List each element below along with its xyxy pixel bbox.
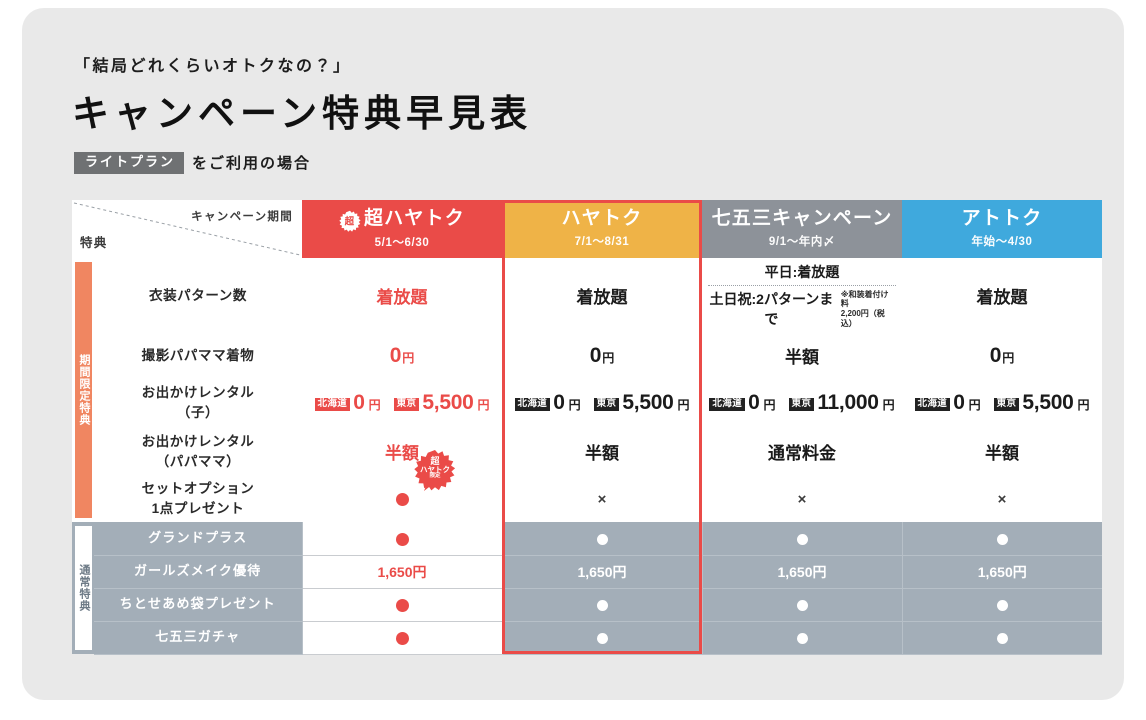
cell-value: 半額 [985,444,1019,463]
standard-section-label: 通常特典 [75,526,92,650]
region-unit: 円 [1077,396,1089,413]
row-label-outing-rental-child: お出かけレンタル （子） [94,378,302,428]
cell-parent-kimono-atotoku: 0円 [902,333,1102,378]
region-price: 東京 5,500円 [394,391,490,415]
region-amount: 0 [353,391,364,415]
region-price-row: 北海道 0円 東京 5,500円 [502,391,702,415]
column-header-title: 七五三キャンペーン [702,209,902,230]
badge-text: 超 ハヤトク 限定 [412,448,458,494]
region-price: 北海道 0円 [515,391,581,415]
limited-section-label: 期間限定特典 [75,262,92,518]
excluded-cross-icon: × [598,491,607,508]
column-header-title: アトトク [902,209,1102,230]
region-badge-hokkaido: 北海道 [915,398,951,412]
included-dot-icon [396,632,409,645]
super-burst-icon: 超 [339,210,361,232]
svg-text:超: 超 [344,215,356,227]
row-label-line-1: お出かけレンタル [94,432,302,452]
split-value: 平日:着放題 土日祝:2パターンまで ※和装着付け料 2,200円（税込） [702,258,902,333]
table-row: お出かけレンタル （子） 北海道 0円 東京 5,500円 [72,378,1102,428]
region-price: 東京 11,000円 [789,391,895,415]
cell-grand-plus-super-hayatoku [302,522,502,555]
table-row: 撮影パパママ着物 0円 0円 半額 0円 [72,333,1102,378]
cell-gacha-atotoku [902,621,1102,654]
cell-value: 着放題 [577,288,628,307]
weekend-note: ※和装着付け料 2,200円（税込） [841,290,896,328]
cell-parent-kimono-shichigosan: 半額 [702,333,902,378]
column-header-super-hayatoku[interactable]: 超 超ハヤトク 5/1〜6/30 [302,200,502,258]
cell-grand-plus-atotoku [902,522,1102,555]
cell-unit: 円 [1002,351,1014,365]
included-dot-icon [597,534,608,545]
super-hayatoku-badge: 超 ハヤトク 限定 [412,448,458,494]
cell-value: 1,650円 [978,564,1027,580]
cell-outing-parents-hayatoku: 半額 [502,428,702,475]
cell-amount: 0 [390,344,401,367]
cell-costume-patterns-hayatoku: 着放題 [502,258,702,333]
column-header-name: アトトク [962,209,1043,230]
plan-suffix: をご利用の場合 [192,152,311,173]
cell-chitose-ame-hayatoku [502,588,702,621]
excluded-cross-icon: × [998,491,1007,508]
standard-section-strip: 通常特典 [72,522,94,654]
row-label-line-1: お出かけレンタル [94,383,302,403]
cell-outing-child-shichigosan: 北海道 0円 東京 11,000円 [702,378,902,428]
row-label-parent-kimono: 撮影パパママ着物 [94,333,302,378]
cell-unit: 円 [402,351,414,365]
region-unit: 円 [477,396,489,413]
region-price-row: 北海道 0円 東京 11,000円 [702,391,902,415]
cell-outing-parents-shichigosan: 通常料金 [702,428,902,475]
cell-grand-plus-hayatoku [502,522,702,555]
excluded-cross-icon: × [798,491,807,508]
cell-value: 通常料金 [768,444,836,463]
region-amount: 11,000 [817,391,878,415]
region-amount: 0 [953,391,964,415]
included-dot-icon [797,600,808,611]
included-dot-icon [797,633,808,644]
column-header-period: 年始〜4/30 [902,233,1102,249]
region-price-row: 北海道 0円 東京 5,500円 [302,391,502,415]
column-header-period: 7/1〜8/31 [502,233,702,249]
page-card: 「結局どれくらいオトクなの？」 キャンペーン特典早見表 ライトプラン をご利用の… [22,8,1124,700]
row-label-shichigosan-gacha: 七五三ガチャ [94,621,302,654]
cell-gacha-super-hayatoku [302,621,502,654]
row-label-costume-patterns: 衣装パターン数 [94,258,302,333]
cell-value: 1,650円 [777,564,826,580]
cell-amount: 0 [590,344,601,367]
table-row: ガールズメイク優待 1,650円 1,650円 1,650円 1,650円 [72,555,1102,588]
note-line-2: 2,200円（税込） [841,309,885,328]
row-label-line-1: セットオプション [94,479,302,499]
row-label-girls-makeup: ガールズメイク優待 [94,555,302,588]
table-row: 期間限定特典 衣装パターン数 着放題 着放題 平日:着放題 土日祝:2パターンま… [72,258,1102,333]
region-amount: 5,500 [1022,391,1073,415]
cell-outing-child-hayatoku: 北海道 0円 東京 5,500円 [502,378,702,428]
comparison-table-wrap: 超 ハヤトク 限定 キャンペーン期間 特典 [72,200,1102,655]
plan-line: ライトプラン をご利用の場合 [74,152,311,174]
cell-girls-makeup-hayatoku: 1,650円 [502,555,702,588]
cell-amount: 0 [990,344,1001,367]
region-unit: 円 [883,396,895,413]
cell-costume-patterns-shichigosan: 平日:着放題 土日祝:2パターンまで ※和装着付け料 2,200円（税込） [702,258,902,333]
region-badge-tokyo: 東京 [789,398,815,412]
column-header-title: 超 超ハヤトク [302,209,502,231]
region-badge-tokyo: 東京 [594,398,620,412]
included-dot-icon [396,599,409,612]
badge-line-3: 限定 [429,474,440,480]
region-badge-tokyo: 東京 [994,398,1020,412]
region-price: 東京 5,500円 [594,391,690,415]
row-label-set-option: セットオプション 1点プレゼント [94,475,302,522]
table-row: 通常特典 グランドプラス [72,522,1102,555]
region-price-row: 北海道 0円 東京 5,500円 [902,391,1102,415]
cell-value: 着放題 [977,288,1028,307]
cell-value: 1,650円 [377,564,426,580]
column-header-name: ハヤトク [562,209,643,230]
cell-outing-parents-super-hayatoku: 半額 [302,428,502,475]
row-label-grand-plus: グランドプラス [94,522,302,555]
included-dot-icon [997,534,1008,545]
region-badge-hokkaido: 北海道 [709,398,745,412]
cell-parent-kimono-super-hayatoku: 0円 [302,333,502,378]
cell-value: 半額 [785,348,819,367]
cell-girls-makeup-shichigosan: 1,650円 [702,555,902,588]
row-label-line-2: （子） [94,403,302,423]
cell-girls-makeup-atotoku: 1,650円 [902,555,1102,588]
cell-girls-makeup-super-hayatoku: 1,650円 [302,555,502,588]
row-label-line-2: （パパママ） [94,452,302,472]
row-label-line-2: 1点プレゼント [94,499,302,519]
table-row: セットオプション 1点プレゼント × × × [72,475,1102,522]
cell-gacha-hayatoku [502,621,702,654]
region-price: 北海道 0円 [709,391,775,415]
cell-parent-kimono-hayatoku: 0円 [502,333,702,378]
cell-set-option-shichigosan: × [702,475,902,522]
cell-costume-patterns-atotoku: 着放題 [902,258,1102,333]
plan-chip: ライトプラン [74,152,184,174]
table-header-row: キャンペーン期間 特典 超 超ハヤトク 5/1〜6/30 [72,200,1102,258]
cell-outing-child-super-hayatoku: 北海道 0円 東京 5,500円 [302,378,502,428]
corner-period-label: キャンペーン期間 [191,208,293,224]
included-dot-icon [997,633,1008,644]
limited-section-strip: 期間限定特典 [72,258,94,522]
included-dot-icon [396,533,409,546]
column-header-period: 9/1〜年内〆 [702,233,902,249]
page-title: キャンペーン特典早見表 [72,83,532,137]
included-dot-icon [997,600,1008,611]
cell-chitose-ame-atotoku [902,588,1102,621]
column-header-name: 超ハヤトク [364,209,465,230]
table-row: お出かけレンタル （パパママ） 半額 半額 通常料金 半額 [72,428,1102,475]
region-price: 北海道 0円 [915,391,981,415]
column-header-name: 七五三キャンペーン [712,209,893,230]
corner-header-cell: キャンペーン期間 特典 [72,200,302,258]
weekend-value-row: 土日祝:2パターンまで ※和装着付け料 2,200円（税込） [708,286,896,329]
column-header-hayatoku[interactable]: ハヤトク 7/1〜8/31 [502,200,702,258]
column-header-title: ハヤトク [502,209,702,230]
cell-outing-parents-atotoku: 半額 [902,428,1102,475]
cell-gacha-shichigosan [702,621,902,654]
comparison-table: キャンペーン期間 特典 超 超ハヤトク 5/1〜6/30 [72,200,1102,655]
region-amount: 0 [553,391,564,415]
included-dot-icon [597,633,608,644]
region-unit: 円 [763,396,775,413]
cell-chitose-ame-super-hayatoku [302,588,502,621]
cell-chitose-ame-shichigosan [702,588,902,621]
region-amount: 5,500 [422,391,473,415]
cell-unit: 円 [602,351,614,365]
cell-set-option-atotoku: × [902,475,1102,522]
cell-set-option-super-hayatoku [302,475,502,522]
region-unit: 円 [677,396,689,413]
row-label-outing-rental-parents: お出かけレンタル （パパママ） [94,428,302,475]
table-row: ちとせあめ袋プレゼント [72,588,1102,621]
included-dot-icon [797,534,808,545]
cell-grand-plus-shichigosan [702,522,902,555]
column-header-period: 5/1〜6/30 [302,234,502,250]
page-kicker: 「結局どれくらいオトクなの？」 [74,52,352,76]
corner-benefit-label: 特典 [80,232,108,251]
region-amount: 0 [748,391,759,415]
cell-value: 着放題 [377,288,428,307]
table-row: 七五三ガチャ [72,621,1102,654]
note-line-1: ※和装着付け料 [841,290,889,309]
region-price: 北海道 0円 [315,391,381,415]
region-badge-tokyo: 東京 [394,398,420,412]
weekday-value: 平日:着放題 [708,262,896,286]
region-unit: 円 [569,396,581,413]
column-header-atotoku[interactable]: アトトク 年始〜4/30 [902,200,1102,258]
column-header-shichigosan[interactable]: 七五三キャンペーン 9/1〜年内〆 [702,200,902,258]
region-unit: 円 [369,396,381,413]
cell-costume-patterns-super-hayatoku: 着放題 [302,258,502,333]
region-badge-hokkaido: 北海道 [515,398,551,412]
weekend-value: 土日祝:2パターンまで [708,289,835,329]
included-dot-icon [396,493,409,506]
cell-value: 半額 [585,444,619,463]
row-label-chitose-ame: ちとせあめ袋プレゼント [94,588,302,621]
cell-outing-child-atotoku: 北海道 0円 東京 5,500円 [902,378,1102,428]
cell-value: 1,650円 [577,564,626,580]
region-badge-hokkaido: 北海道 [315,398,351,412]
region-amount: 5,500 [622,391,673,415]
region-unit: 円 [969,396,981,413]
cell-set-option-hayatoku: × [502,475,702,522]
included-dot-icon [597,600,608,611]
region-price: 東京 5,500円 [994,391,1090,415]
